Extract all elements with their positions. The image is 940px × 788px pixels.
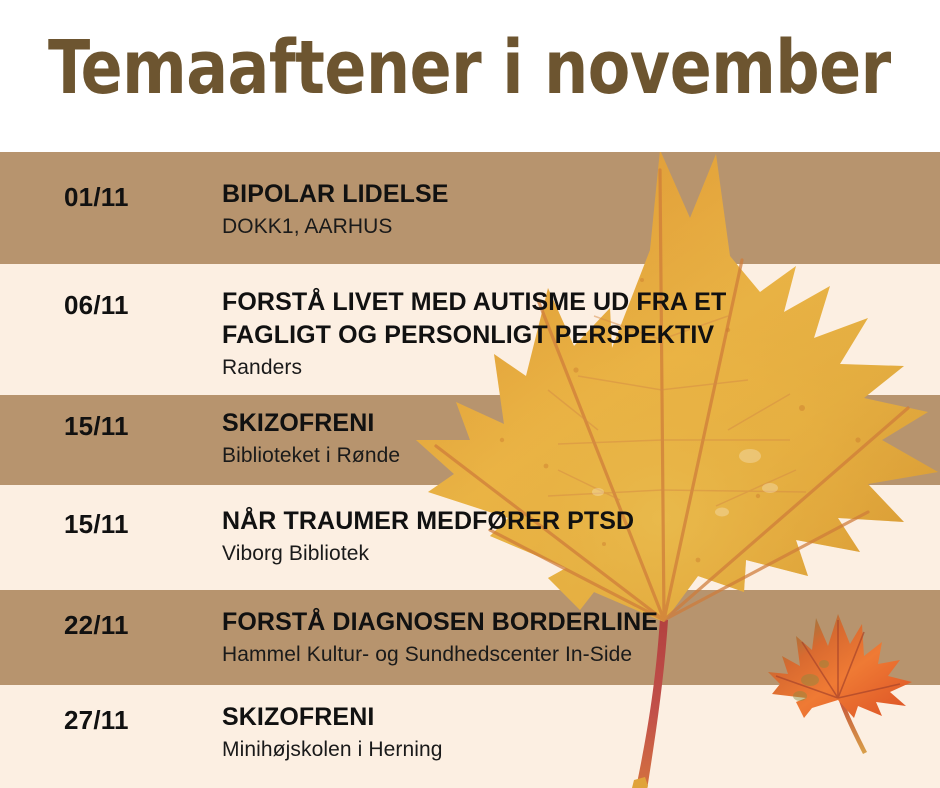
event-venue: Randers [222, 354, 932, 382]
event-row[interactable]: 06/11 FORSTÅ LIVET MED AUTISME UD FRA ET… [0, 264, 940, 395]
event-title: BIPOLAR LIDELSE [222, 178, 932, 211]
event-date: 15/11 [64, 509, 129, 540]
event-venue: Viborg Bibliotek [222, 540, 932, 568]
event-venue: Hammel Kultur- og Sundhedscenter In-Side [222, 641, 932, 669]
event-title: SKIZOFRENI [222, 701, 932, 734]
event-details: NÅR TRAUMER MEDFØRER PTSD Viborg Bibliot… [222, 505, 932, 568]
event-title: FORSTÅ LIVET MED AUTISME UD FRA ET FAGLI… [222, 286, 932, 352]
poster-canvas: Temaaftener i november 01/11 BIPOLAR LID… [0, 0, 940, 788]
event-date: 01/11 [64, 182, 129, 213]
event-title: SKIZOFRENI [222, 407, 932, 440]
event-details: SKIZOFRENI Biblioteket i Rønde [222, 407, 932, 470]
page-title: Temaaftener i november [48, 28, 891, 108]
event-venue: Minihøjskolen i Herning [222, 736, 932, 764]
event-date: 27/11 [64, 705, 129, 736]
event-venue: DOKK1, AARHUS [222, 213, 932, 241]
event-row[interactable]: 15/11 SKIZOFRENI Biblioteket i Rønde [0, 395, 940, 485]
event-title: FORSTÅ DIAGNOSEN BORDERLINE [222, 606, 932, 639]
event-row[interactable]: 22/11 FORSTÅ DIAGNOSEN BORDERLINE Hammel… [0, 590, 940, 685]
event-row[interactable]: 27/11 SKIZOFRENI Minihøjskolen i Herning [0, 685, 940, 788]
event-details: FORSTÅ LIVET MED AUTISME UD FRA ET FAGLI… [222, 286, 932, 382]
poster-header: Temaaftener i november [0, 0, 940, 152]
event-details: SKIZOFRENI Minihøjskolen i Herning [222, 701, 932, 764]
event-date: 06/11 [64, 290, 129, 321]
event-title: NÅR TRAUMER MEDFØRER PTSD [222, 505, 932, 538]
event-date: 22/11 [64, 610, 129, 641]
event-details: BIPOLAR LIDELSE DOKK1, AARHUS [222, 178, 932, 241]
event-details: FORSTÅ DIAGNOSEN BORDERLINE Hammel Kultu… [222, 606, 932, 669]
event-date: 15/11 [64, 411, 129, 442]
event-venue: Biblioteket i Rønde [222, 442, 932, 470]
event-row[interactable]: 01/11 BIPOLAR LIDELSE DOKK1, AARHUS [0, 152, 940, 264]
event-row[interactable]: 15/11 NÅR TRAUMER MEDFØRER PTSD Viborg B… [0, 485, 940, 590]
